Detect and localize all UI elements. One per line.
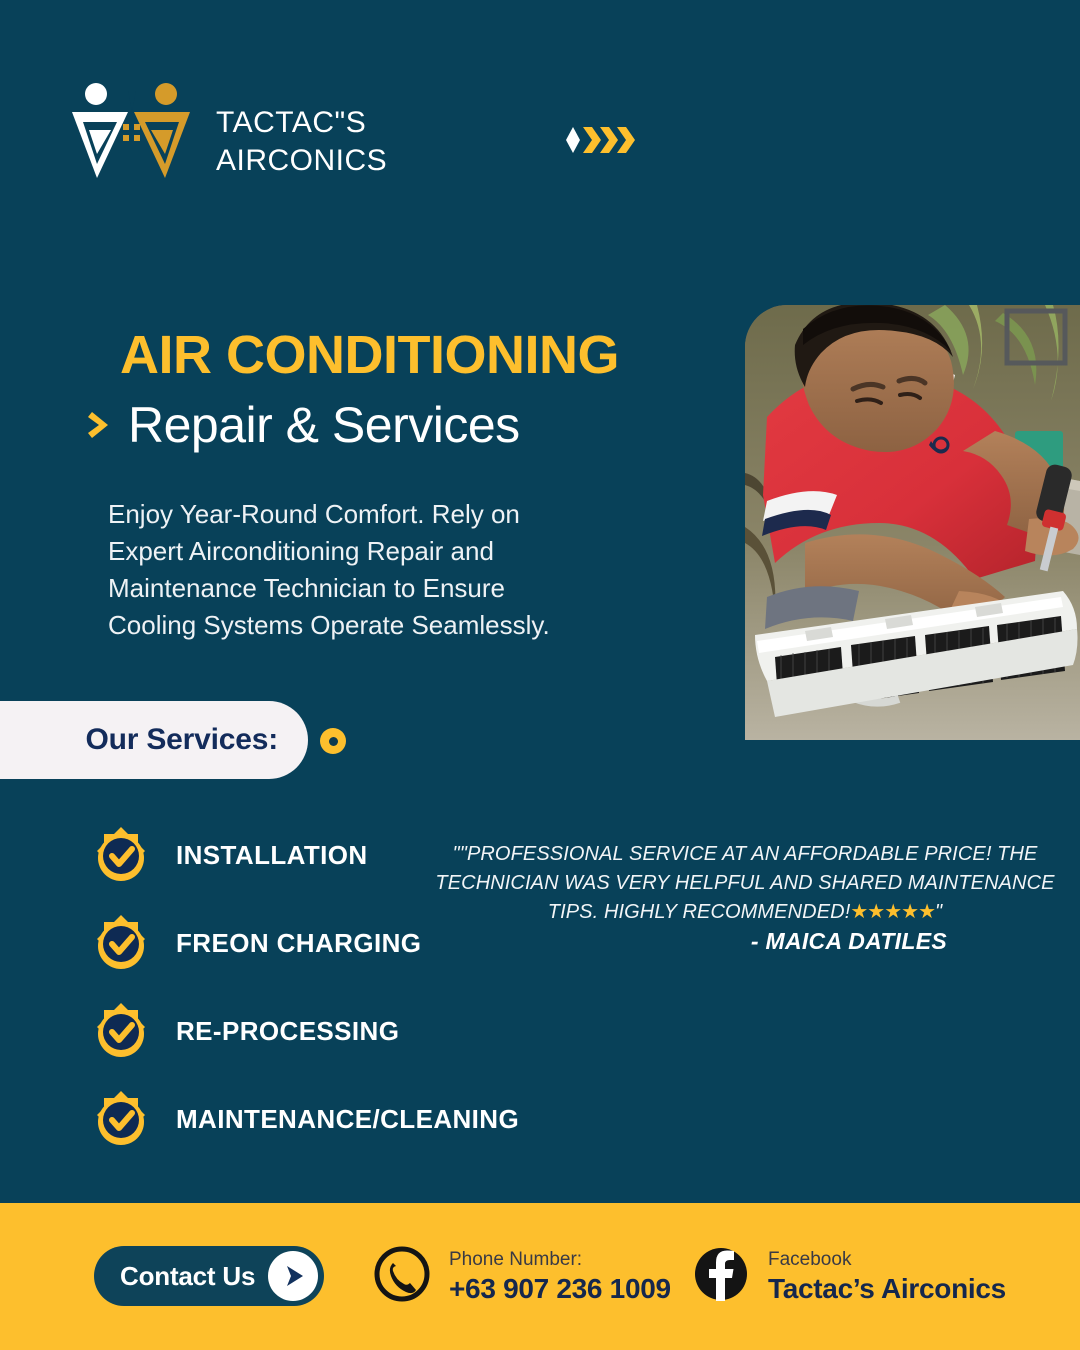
header: TACTAC"S AIRCONICS — [0, 0, 1080, 200]
facebook-label: Facebook — [768, 1249, 851, 1270]
contact-us-button[interactable]: Contact Us — [94, 1246, 324, 1306]
brand-name: TACTAC"S AIRCONICS — [216, 104, 387, 180]
chevron-arrows-icon — [563, 123, 643, 157]
testimonial-quote: ""PROFESSIONAL SERVICE AT AN AFFORDABLE … — [425, 840, 1065, 927]
testimonial-line-3: HIGHLY RECOMMENDED! — [604, 901, 850, 923]
facebook-value: Tactac’s Airconics — [768, 1272, 1006, 1306]
list-item[interactable]: RE-PROCESSING — [88, 998, 519, 1064]
phone-circle-icon — [373, 1245, 431, 1308]
testimonial-author: - MAICA DATILES — [425, 928, 1065, 955]
page-title: AIR CONDITIONING — [120, 325, 619, 385]
page-subtitle: Repair & Services — [128, 396, 520, 454]
contact-us-label: Contact Us — [120, 1261, 255, 1292]
service-label: MAINTENANCE/CLEANING — [176, 1104, 519, 1135]
service-label: INSTALLATION — [176, 840, 368, 871]
two-triangle-people-logo-icon — [66, 78, 196, 182]
logo-mark[interactable] — [66, 78, 196, 182]
service-label: RE-PROCESSING — [176, 1016, 399, 1047]
play-arrow-icon — [268, 1251, 318, 1301]
service-label: FREON CHARGING — [176, 928, 421, 959]
testimonial-line-1: ""PROFESSIONAL SERVICE AT AN AFFORDABLE … — [453, 843, 1038, 865]
check-badge-icon — [88, 1086, 154, 1152]
check-badge-icon — [88, 998, 154, 1064]
hero-photo — [745, 305, 1080, 740]
phone-label: Phone Number: — [449, 1249, 582, 1270]
phone-info[interactable]: Phone Number: +63 907 236 1009 — [373, 1245, 671, 1308]
services-heading-pill: Our Services: — [0, 701, 308, 779]
phone-value: +63 907 236 1009 — [449, 1272, 671, 1306]
facebook-info[interactable]: Facebook Tactac’s Airconics — [692, 1245, 1006, 1308]
star-rating-icon: ★★★★★ — [850, 901, 935, 923]
list-item[interactable]: MAINTENANCE/CLEANING — [88, 1086, 519, 1152]
technician-photo-illustration — [745, 305, 1080, 740]
facebook-icon — [692, 1245, 750, 1308]
testimonial-quote-close: " — [935, 901, 942, 923]
subheadline-row: Repair & Services — [88, 396, 520, 454]
dot-icon — [320, 728, 346, 754]
check-badge-icon — [88, 910, 154, 976]
hero-description: Enjoy Year-Round Comfort. Rely on Expert… — [108, 496, 568, 644]
services-heading-label: Our Services: — [85, 723, 278, 757]
check-badge-icon — [88, 822, 154, 888]
chevron-right-icon — [88, 408, 114, 442]
